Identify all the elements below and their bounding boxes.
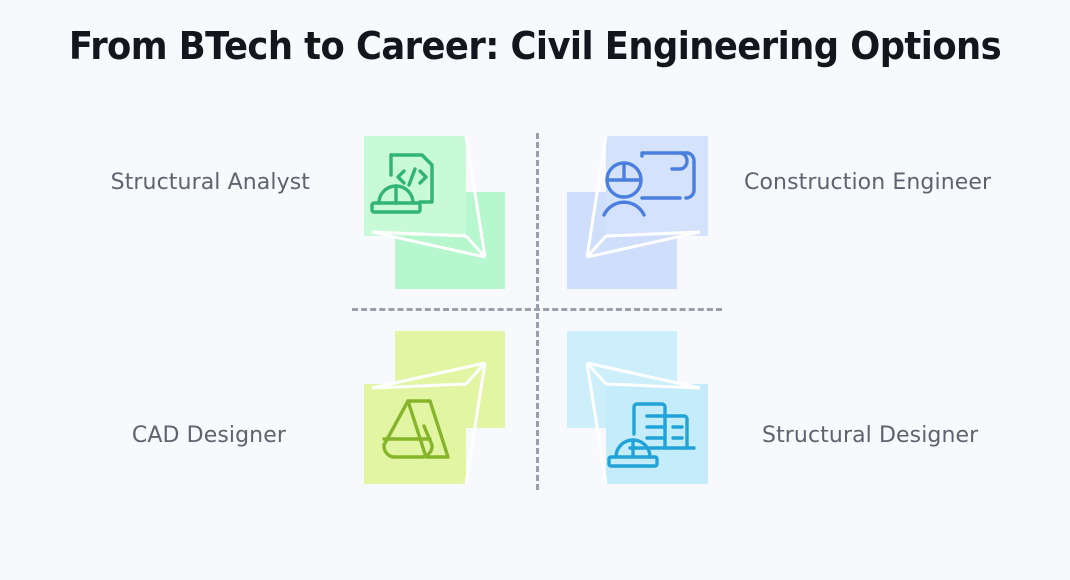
quadrant-construction-engineer[interactable] [552, 130, 724, 296]
quadrant-cad-designer[interactable] [360, 326, 532, 492]
q1-square-main [364, 136, 466, 236]
quadrant-label-construction-engineer: Construction Engineer [744, 170, 1044, 195]
horizontal-divider [352, 308, 722, 311]
quadrant-label-structural-analyst: Structural Analyst [26, 170, 310, 195]
quadrant-structural-analyst[interactable] [360, 130, 532, 296]
quadrant-label-cad-designer: CAD Designer [26, 423, 286, 448]
quadrant-matrix [352, 130, 724, 490]
q4-square-main [606, 384, 708, 484]
slide-canvas: From BTech to Career: Civil Engineering … [0, 0, 1070, 580]
quadrant-structural-designer[interactable] [552, 326, 724, 492]
page-title: From BTech to Career: Civil Engineering … [37, 24, 1032, 68]
vertical-divider [536, 133, 539, 490]
quadrant-label-structural-designer: Structural Designer [762, 423, 1062, 448]
q3-square-main [364, 384, 466, 484]
